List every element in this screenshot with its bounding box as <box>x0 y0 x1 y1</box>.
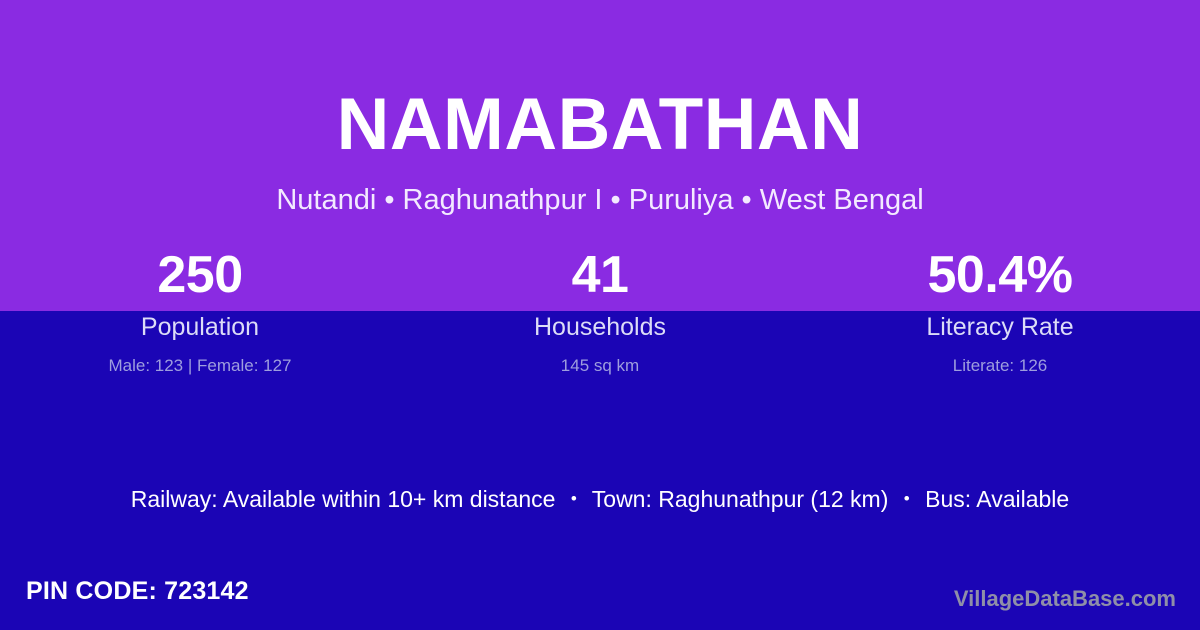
amenity-town: Town: Raghunathpur (12 km) <box>592 486 889 512</box>
stat-population: 250 Population Male: 123 | Female: 127 <box>0 244 400 394</box>
amenity-railway: Railway: Available within 10+ km distanc… <box>131 486 556 512</box>
stat-value: 250 <box>0 244 400 306</box>
bullet-separator-icon: • <box>562 484 586 514</box>
amenities-line: Railway: Available within 10+ km distanc… <box>0 484 1200 514</box>
stat-value: 50.4% <box>800 244 1200 306</box>
stat-label: Households <box>400 311 800 343</box>
stat-sub: 145 sq km <box>400 355 800 377</box>
brand-watermark: VillageDataBase.com <box>954 585 1176 613</box>
stat-sub: Male: 123 | Female: 127 <box>0 355 400 377</box>
breadcrumb: Nutandi • Raghunathpur I • Puruliya • We… <box>0 182 1200 218</box>
stat-sub: Literate: 126 <box>800 355 1200 377</box>
stats-row: 250 Population Male: 123 | Female: 127 4… <box>0 244 1200 394</box>
page-title: NAMABATHAN <box>0 82 1200 168</box>
stat-label: Population <box>0 311 400 343</box>
bullet-separator-icon: • <box>895 484 919 514</box>
amenity-bus: Bus: Available <box>925 486 1069 512</box>
stat-literacy-rate: 50.4% Literacy Rate Literate: 126 <box>800 244 1200 394</box>
pin-code: PIN CODE: 723142 <box>26 575 249 607</box>
stat-value: 41 <box>400 244 800 306</box>
stat-label: Literacy Rate <box>800 311 1200 343</box>
stat-households: 41 Households 145 sq km <box>400 244 800 394</box>
village-info-card: NAMABATHAN Nutandi • Raghunathpur I • Pu… <box>0 0 1200 630</box>
